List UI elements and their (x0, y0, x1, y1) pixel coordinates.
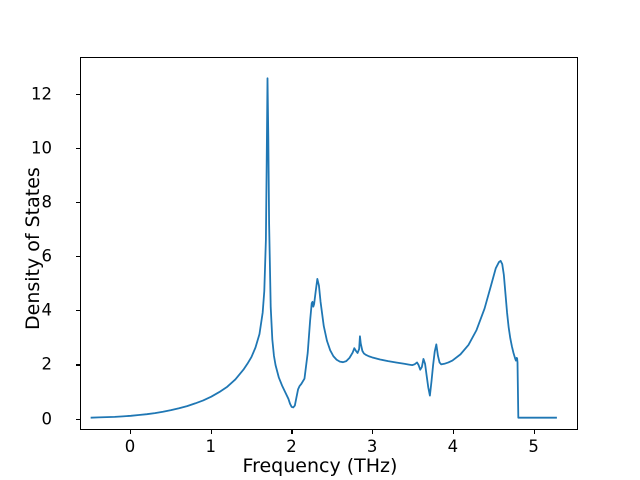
y-axis-label: Density of States (22, 167, 44, 330)
y-tickmark (76, 94, 80, 95)
dos-curve-svg (81, 58, 577, 429)
x-tickmark (130, 430, 131, 434)
x-tick-label: 3 (367, 437, 378, 456)
y-tickmark (76, 202, 80, 203)
y-tickmark (76, 148, 80, 149)
figure-canvas: 012345 024681012 Frequency (THz) Density… (0, 0, 640, 480)
y-tickmark (76, 256, 80, 257)
y-tickmark (76, 419, 80, 420)
x-tickmark (291, 430, 292, 434)
x-tickmark (534, 430, 535, 434)
x-tickmark (211, 430, 212, 434)
y-tick-label: 12 (31, 84, 52, 103)
x-tick-label: 5 (528, 437, 539, 456)
x-tick-label: 1 (206, 437, 217, 456)
y-tickmark (76, 364, 80, 365)
x-tick-label: 4 (448, 437, 459, 456)
x-tickmark (372, 430, 373, 434)
x-tickmark (453, 430, 454, 434)
x-tick-label: 0 (125, 437, 136, 456)
y-tick-label: 0 (42, 409, 53, 428)
x-tick-label: 2 (286, 437, 297, 456)
plot-axes-area (80, 57, 578, 430)
x-axis-label: Frequency (THz) (0, 455, 640, 477)
y-tick-label: 2 (42, 355, 53, 374)
dos-line-series (91, 78, 557, 417)
y-tickmark (76, 310, 80, 311)
y-tick-label: 10 (31, 138, 52, 157)
